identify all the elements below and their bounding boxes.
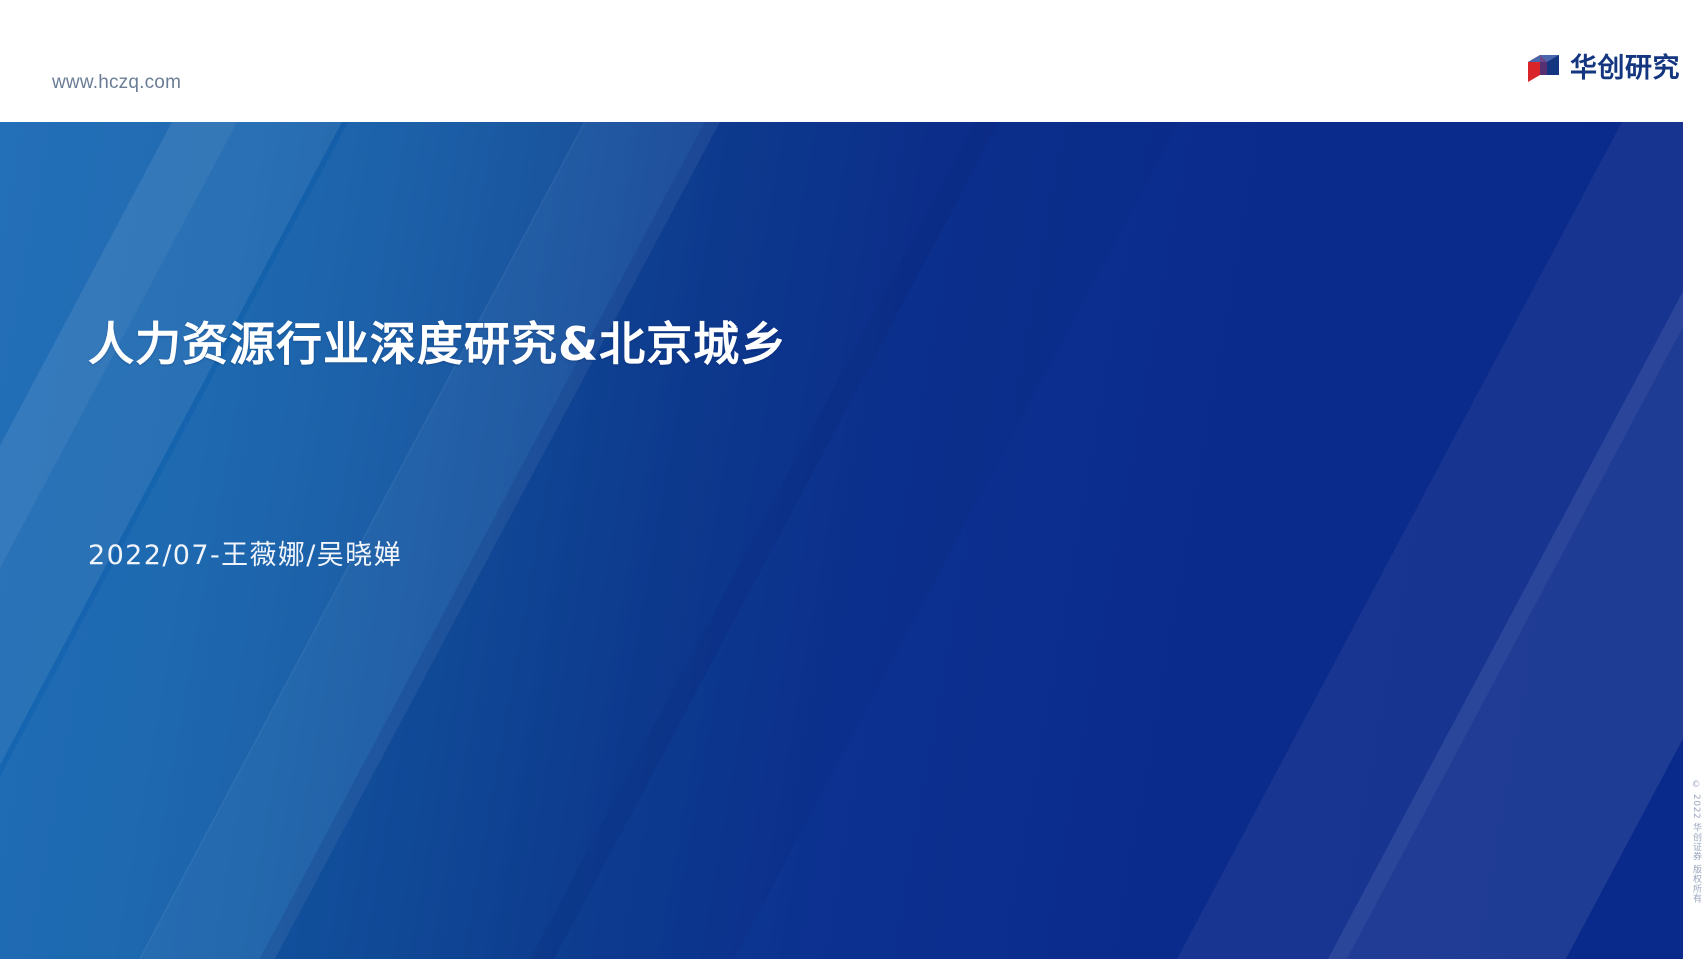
brand-logo-text: 华创研究	[1570, 55, 1680, 82]
site-url[interactable]: www.hczq.com	[52, 72, 181, 94]
brand-logo[interactable]: 华创研究	[1527, 54, 1680, 83]
copyright-text: © 2022 华创证券 版权所有	[1690, 780, 1703, 903]
slide-subtitle: 2022/07-王薇娜/吴晓婵	[88, 542, 402, 569]
slide-header: www.hczq.com 华创研究	[0, 0, 1706, 122]
hero-panel: 人力资源行业深度研究&北京城乡 2022/07-王薇娜/吴晓婵	[0, 122, 1683, 959]
cube-logo-icon	[1527, 54, 1561, 83]
title-block: 人力资源行业深度研究&北京城乡	[88, 318, 787, 371]
title-slide: www.hczq.com 华创研究 人	[0, 0, 1706, 959]
slide-title: 人力资源行业深度研究&北京城乡	[88, 318, 787, 371]
